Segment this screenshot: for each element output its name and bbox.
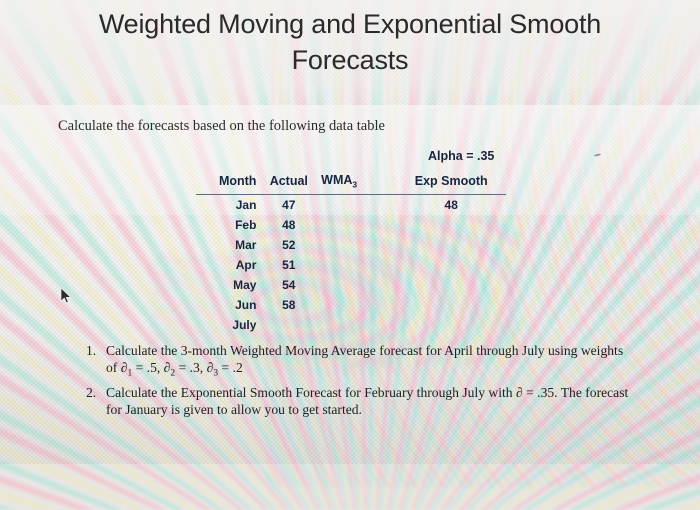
- cell-month: Jun: [196, 295, 260, 315]
- weight-2-value: = .3,: [175, 360, 206, 375]
- alpha-symbol: ∂: [516, 385, 523, 400]
- question-1-body: Calculate the 3-month Weighted Moving Av…: [106, 342, 631, 383]
- cell-exp-smooth[interactable]: [396, 255, 506, 275]
- question-item-2: 2. Calculate the Exponential Smooth Fore…: [86, 384, 631, 418]
- question-1-number: 1.: [86, 342, 106, 359]
- cell-wma[interactable]: [317, 315, 396, 335]
- cell-actual: 52: [260, 235, 317, 255]
- cell-month: Jan: [196, 194, 260, 215]
- table-row: July: [196, 315, 506, 335]
- cell-month: Feb: [196, 215, 260, 235]
- cell-exp-smooth[interactable]: 48: [396, 194, 506, 215]
- table-header-row: Month Actual WMA3 Exp Smooth: [196, 173, 506, 194]
- cell-exp-smooth[interactable]: [396, 295, 506, 315]
- question-2-body: Calculate the Exponential Smooth Forecas…: [106, 384, 631, 418]
- table-row: May 54: [196, 275, 506, 295]
- cell-month: Apr: [196, 255, 260, 275]
- weight-3-value: = .2: [218, 360, 243, 375]
- forecast-data-table: Month Actual WMA3 Exp Smooth Jan 47 48 F…: [196, 173, 506, 335]
- cell-wma[interactable]: [317, 235, 396, 255]
- prompt-text: Calculate the forecasts based on the fol…: [58, 118, 385, 135]
- question-2-number: 2.: [86, 384, 106, 401]
- cell-wma[interactable]: [317, 255, 396, 275]
- cell-wma[interactable]: [317, 275, 396, 295]
- table-row: Feb 48: [196, 215, 506, 235]
- question-item-1: 1. Calculate the 3-month Weighted Moving…: [86, 342, 631, 383]
- slide-title: Weighted Moving and Exponential Smooth F…: [55, 6, 645, 78]
- table-row: Jan 47 48: [196, 194, 506, 215]
- wma-label: WMA: [321, 173, 352, 187]
- cell-wma[interactable]: [317, 215, 396, 235]
- column-header-month: Month: [196, 173, 260, 194]
- wma-subscript: 3: [352, 180, 357, 190]
- cell-exp-smooth[interactable]: [396, 275, 506, 295]
- alpha-label: Alpha = .35: [428, 149, 494, 163]
- cell-exp-smooth[interactable]: [396, 235, 506, 255]
- questions-list: 1. Calculate the 3-month Weighted Moving…: [86, 342, 631, 419]
- weight-1-value: = .5,: [132, 360, 163, 375]
- question-2-text-part1: Calculate the Exponential Smooth Forecas…: [106, 385, 516, 400]
- cell-wma[interactable]: [317, 194, 396, 215]
- cell-actual: 48: [260, 215, 317, 235]
- cell-month: May: [196, 275, 260, 295]
- cell-month: Mar: [196, 235, 260, 255]
- cell-actual: 47: [260, 194, 317, 215]
- column-header-actual: Actual: [260, 173, 317, 194]
- table-row: Jun 58: [196, 295, 506, 315]
- cell-actual: [260, 315, 317, 335]
- table-row: Apr 51: [196, 255, 506, 275]
- cell-actual: 54: [260, 275, 317, 295]
- mouse-pointer-arrow-icon: [60, 287, 72, 305]
- cell-month: July: [196, 315, 260, 335]
- cell-wma[interactable]: [317, 295, 396, 315]
- table-body: Jan 47 48 Feb 48 Mar 52 Apr 51: [196, 194, 506, 335]
- column-header-wma: WMA3: [317, 173, 396, 194]
- cell-exp-smooth[interactable]: [396, 215, 506, 235]
- cell-actual: 58: [260, 295, 317, 315]
- column-header-exp-smooth: Exp Smooth: [396, 173, 506, 194]
- cell-actual: 51: [260, 255, 317, 275]
- cell-exp-smooth[interactable]: [396, 315, 506, 335]
- table-row: Mar 52: [196, 235, 506, 255]
